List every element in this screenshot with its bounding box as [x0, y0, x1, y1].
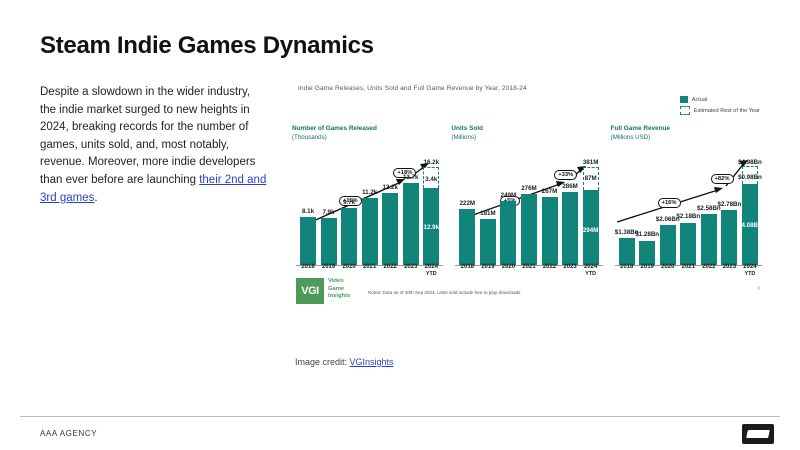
x-label-2024: 2024 YTD [742, 264, 758, 278]
slide: Steam Indie Games Dynamics Despite a slo… [0, 0, 800, 450]
image-credit: Image credit: VGInsights [295, 357, 394, 367]
chart-title: Indie Game Releases, Units Sold and Full… [298, 85, 527, 92]
body-text-part-2: . [94, 192, 97, 204]
vgi-mark-icon: VGI [296, 278, 324, 304]
bar-rect[interactable] [542, 197, 558, 266]
x-label-2019: 2019 [480, 264, 496, 278]
vgi-line-2: Game [328, 286, 350, 294]
bar-2021[interactable]: $2.18Bn [680, 160, 696, 266]
panel-3-plot: +16% +82% $1.38Bn $1.28Bn $2.06Bn [611, 160, 762, 278]
vgi-line-3: Insights [328, 293, 350, 301]
body-paragraph: Despite a slowdown in the wider industry… [40, 84, 268, 207]
x-label-2023: 2023 [721, 264, 737, 278]
x-label-2021: 2021 [521, 264, 537, 278]
panel-units-sold: Units Sold (Millions) +5% +33% 222M [447, 124, 606, 294]
x-label-2024-year: 2024 [584, 264, 597, 270]
bar-value-label: 294M [583, 227, 598, 234]
bar-estimate-label: 87M [585, 175, 597, 182]
bar-2020[interactable]: 9.7k [341, 160, 357, 266]
panel-2-x-labels: 2018 2019 2020 2021 2022 2023 2024 YTD [459, 264, 598, 278]
vginsights-logo: VGI Video Game Insights [296, 278, 350, 304]
bar-value-label: 13.7k [403, 174, 418, 181]
bar-2018[interactable]: 222M [459, 160, 475, 266]
panel-3-bars: $1.38Bn $1.28Bn $2.06Bn $2.18Bn [619, 160, 758, 266]
x-label-2024-ytd: YTD [583, 271, 599, 278]
panel-1-subtitle: (Thousands) [292, 133, 443, 142]
bar-rect[interactable] [300, 217, 316, 266]
bar-2022[interactable]: $2.58Bn [701, 160, 717, 266]
bar-2023[interactable]: 13.7k [403, 160, 419, 266]
bar-value-label: 276M [521, 185, 536, 192]
legend-item-estimated: Estimated Rest of the Year [680, 106, 760, 115]
x-label-2020: 2020 [341, 264, 357, 278]
panel-2-plot: +5% +33% 222M 181M 249M [451, 160, 602, 278]
bar-2024[interactable]: 16.2k 3.4k 12.9k [423, 160, 439, 266]
x-label-2023: 2023 [403, 264, 419, 278]
x-label-2024: 2024 YTD [423, 264, 439, 278]
panel-3-title: Full Game Revenue [611, 124, 762, 133]
bar-rect[interactable] [382, 193, 398, 266]
body-text-part-1: Despite a slowdown in the wider industry… [40, 86, 255, 186]
bar-rect[interactable] [619, 238, 635, 266]
panel-3-subtitle: (Millions USD) [611, 133, 762, 142]
footer-divider [20, 416, 780, 417]
bar-2018[interactable]: 8.1k [300, 160, 316, 266]
legend-swatch-actual-icon [680, 96, 688, 103]
figure-page-number: 8 [757, 286, 760, 292]
panel-3-x-labels: 2018 2019 2020 2021 2022 2023 2024 YTD [619, 264, 758, 278]
bar-2018[interactable]: $1.38Bn [619, 160, 635, 266]
legend-item-actual: Actual [680, 96, 760, 103]
bar-2022[interactable]: 267M [542, 160, 558, 266]
bar-value-label: 249M [501, 192, 516, 199]
bar-2023[interactable]: $2.78Bn [721, 160, 737, 266]
bar-rect[interactable] [403, 183, 419, 266]
bar-rect[interactable] [639, 241, 655, 266]
panel-full-game-revenue: Full Game Revenue (Millions USD) +16% +8… [607, 124, 766, 294]
bar-value-label: 9.7k [343, 199, 355, 206]
bar-2024[interactable]: $4.98Bn $0.98Bn $4.08Bn [742, 160, 758, 266]
bar-rect[interactable] [680, 223, 696, 266]
bar-rect[interactable] [701, 214, 717, 266]
vgi-wordmark: Video Game Insights [328, 278, 350, 301]
x-label-2024-ytd: YTD [423, 271, 439, 278]
bar-value-label: $2.18Bn [676, 213, 700, 220]
bar-2021[interactable]: 11.2k [362, 160, 378, 266]
panel-1-bars: 8.1k 7.9k 9.7k 11.2k [300, 160, 439, 266]
panel-2-bars: 222M 181M 249M 276M [459, 160, 598, 266]
bar-value-label: 8.1k [302, 208, 314, 215]
bar-value-label: $2.78Bn [718, 201, 742, 208]
x-label-2019: 2019 [639, 264, 655, 278]
bar-2019[interactable]: 7.9k [321, 160, 337, 266]
bar-rect[interactable] [321, 218, 337, 266]
chart-figure: Indie Game Releases, Units Sold and Full… [288, 78, 766, 320]
chart-panels: Number of Games Released (Thousands) +11… [288, 124, 766, 294]
x-label-2019: 2019 [321, 264, 337, 278]
bar-value-label: $1.28Bn [635, 231, 659, 238]
bar-2019[interactable]: $1.28Bn [639, 160, 655, 266]
x-label-2023: 2023 [562, 264, 578, 278]
bar-rect[interactable] [721, 210, 737, 266]
image-credit-label: Image credit: [295, 357, 350, 367]
bar-value-label: 181M [480, 210, 495, 217]
x-label-2021: 2021 [680, 264, 696, 278]
chart-notes: Notes: Data as of 30th Sep 2024. Units s… [368, 290, 520, 295]
footer-logo-icon [742, 424, 774, 444]
bar-2020[interactable]: 249M [500, 160, 516, 266]
panel-games-released: Number of Games Released (Thousands) +11… [288, 124, 447, 294]
bar-value-label: 222M [460, 200, 475, 207]
bar-2021[interactable]: 276M [521, 160, 537, 266]
x-label-2020: 2020 [500, 264, 516, 278]
bar-rect[interactable] [660, 225, 676, 266]
bar-estimate-label: 3.4k [425, 176, 437, 183]
bar-2020[interactable]: $2.06Bn [660, 160, 676, 266]
bar-rect[interactable] [341, 208, 357, 266]
panel-1-x-labels: 2018 2019 2020 2021 2022 2023 2024 YTD [300, 264, 439, 278]
bar-total-label: $4.98Bn [738, 159, 762, 166]
image-credit-link[interactable]: VGInsights [350, 357, 394, 367]
bar-2022[interactable]: 12.2k [382, 160, 398, 266]
x-label-2024-ytd: YTD [742, 271, 758, 278]
bar-value-label: 7.9k [323, 209, 335, 216]
x-label-2024-year: 2024 [743, 264, 756, 270]
bar-rect[interactable] [459, 209, 475, 266]
x-label-2024-year: 2024 [425, 264, 438, 270]
bar-value-label: 12.9k [424, 224, 439, 231]
x-label-2024: 2024 YTD [583, 264, 599, 278]
bar-2019[interactable]: 181M [480, 160, 496, 266]
panel-2-subtitle: (Millions) [451, 133, 602, 142]
page-title: Steam Indie Games Dynamics [40, 32, 374, 60]
bar-total-label: 16.2k [424, 159, 439, 166]
legend-swatch-estimated-icon [680, 106, 690, 115]
bar-value-label: 11.2k [362, 189, 377, 196]
bar-rect[interactable] [480, 219, 496, 266]
bar-rect[interactable] [362, 198, 378, 266]
bar-value-label: $4.08Bn [738, 222, 762, 229]
chart-legend: Actual Estimated Rest of the Year [680, 96, 760, 118]
legend-label-actual: Actual [692, 97, 708, 103]
bar-2024[interactable]: 381M 87M 294M [583, 160, 599, 266]
x-label-2018: 2018 [300, 264, 316, 278]
bar-value-label: 12.2k [382, 184, 397, 191]
x-label-2022: 2022 [542, 264, 558, 278]
panel-1-plot: +11% +18% 8.1k 7.9k 9.7k [292, 160, 443, 278]
x-label-2018: 2018 [459, 264, 475, 278]
footer-agency-label: AAA AGENCY [40, 429, 97, 438]
bar-rect[interactable] [500, 201, 516, 266]
x-label-2022: 2022 [382, 264, 398, 278]
x-label-2020: 2020 [660, 264, 676, 278]
panel-2-title: Units Sold [451, 124, 602, 133]
bar-total-label: 381M [583, 159, 598, 166]
bar-2023[interactable]: 286M [562, 160, 578, 266]
legend-label-estimated: Estimated Rest of the Year [694, 108, 760, 114]
bar-value-label: 267M [542, 188, 557, 195]
bar-value-label: 286M [562, 183, 577, 190]
x-label-2022: 2022 [701, 264, 717, 278]
x-label-2018: 2018 [619, 264, 635, 278]
bar-estimate-label: $0.98Bn [738, 174, 762, 181]
x-label-2021: 2021 [362, 264, 378, 278]
panel-1-title: Number of Games Released [292, 124, 443, 133]
vgi-line-1: Video [328, 278, 350, 286]
bar-rect[interactable] [521, 194, 537, 266]
bar-rect[interactable] [562, 192, 578, 266]
